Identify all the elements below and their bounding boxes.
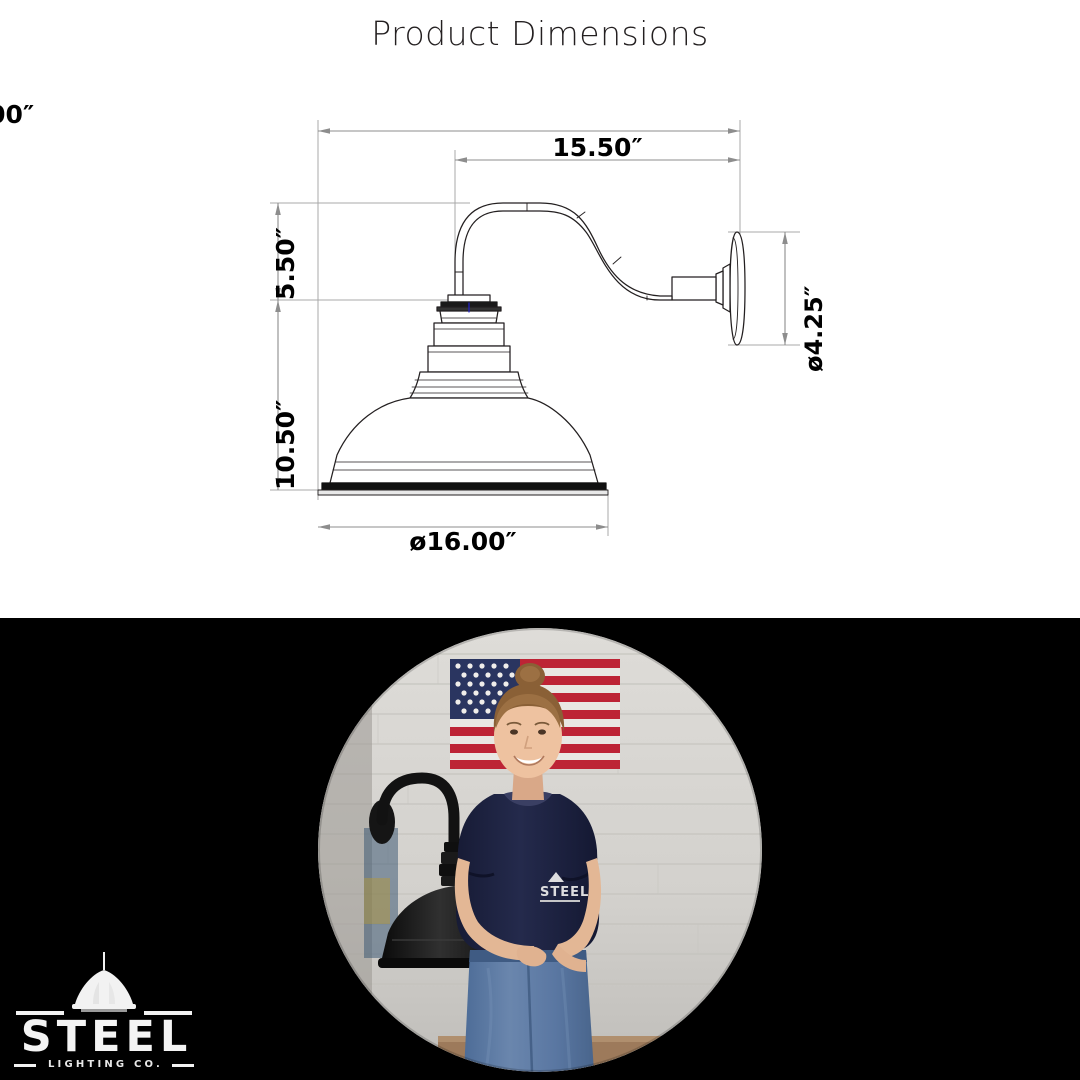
lamp-shade: [318, 372, 608, 495]
wall-mount-plate: [716, 232, 745, 345]
dimension-label-16: ø16.00″: [318, 527, 608, 556]
gooseneck-arm: [455, 203, 672, 302]
lifestyle-photo-illustration: STEEL: [318, 628, 762, 1072]
logo-tagline-rule-right: [172, 1064, 194, 1067]
brand-tagline: LIGHTING CO.: [14, 1059, 194, 1070]
brand-name: STEEL: [14, 1016, 194, 1059]
pendant-lamp-icon: [69, 952, 139, 1014]
brand-logo: STEEL LIGHTING CO.: [14, 952, 194, 1064]
technical-drawing-panel: Product Dimensions: [0, 0, 1080, 618]
dimension-drawing: [0, 0, 1080, 618]
svg-text:STEEL: STEEL: [540, 885, 589, 900]
brand-tagline-row: LIGHTING CO.: [14, 1059, 194, 1071]
dimension-label-1050: 10.50″: [271, 400, 300, 490]
light-fixture-drawing: [318, 203, 745, 495]
product-dimensions-page: Product Dimensions: [0, 0, 1080, 1080]
dimension-label-425: ø4.25″: [800, 286, 828, 372]
dimension-label-550: 5.50″: [271, 227, 300, 300]
arm-straight-segment: [672, 277, 716, 300]
dimension-label-23: 23.00″: [0, 100, 529, 129]
socket-collar: [428, 295, 510, 372]
arm-segment-marks: [455, 203, 647, 300]
lifestyle-photo-panel: STEEL: [0, 618, 1080, 1080]
lifestyle-photo: STEEL: [318, 628, 762, 1072]
dimension-label-1550: 15.50″: [455, 133, 740, 162]
